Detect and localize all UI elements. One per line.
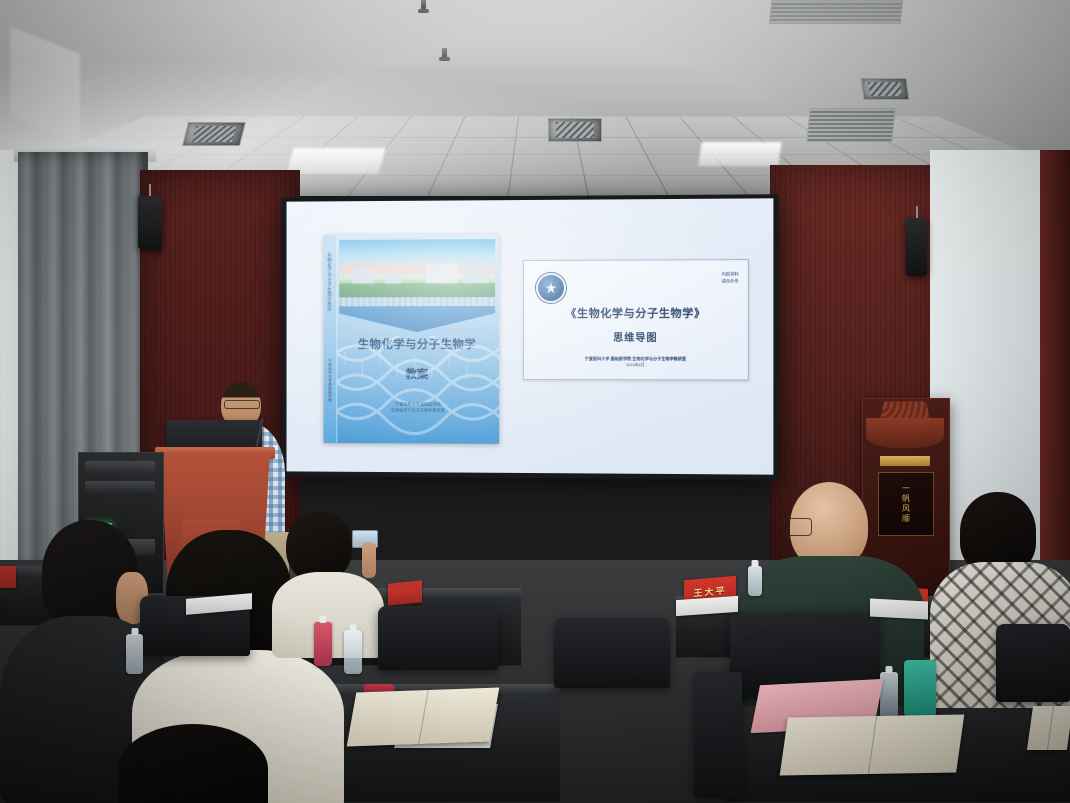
projection-screen[interactable]: 生物化学与分子生物学教案 宁夏医科大学基础医学院 生物化学与分子生物学 教案: [287, 198, 774, 474]
audience-glasses: [784, 518, 812, 536]
pink-thermos: [314, 622, 332, 666]
ceiling-return-grille: [769, 0, 904, 24]
ship-scroll-text: 一帆风顺: [901, 484, 912, 524]
water-bottle: [344, 630, 362, 674]
name-card-3: [388, 580, 422, 606]
rack-unit: [85, 481, 155, 493]
photo-stage: 生物化学与分子生物学教案 宁夏医科大学基础医学院 生物化学与分子生物学 教案: [0, 0, 1070, 803]
open-notebook: [780, 714, 965, 775]
projection-screen-frame: 生物化学与分子生物学教案 宁夏医科大学基础医学院 生物化学与分子生物学 教案: [282, 194, 779, 480]
green-thermos: [904, 660, 936, 718]
water-bottle: [126, 634, 143, 674]
dna-helix-graphic: [337, 336, 499, 444]
water-bottle: [748, 566, 762, 596]
wall-speaker-right: [906, 218, 927, 276]
ship-scroll: 一帆风顺: [878, 472, 934, 536]
sprinkler-head: [442, 48, 447, 60]
mindmap-title-card: 内部资料 请勿外传 《生物化学与分子生物学》 思维导图 宁夏医科大学 基础医学院…: [523, 259, 749, 380]
ship-hull: [866, 418, 944, 448]
confidential-notice: 内部资料 请勿外传: [722, 271, 739, 284]
audience-arm: [362, 542, 376, 578]
textbook-cover-image: 生物化学与分子生物学教案 宁夏医科大学基础医学院 生物化学与分子生物学 教案: [324, 234, 500, 444]
sprinkler-head: [421, 0, 426, 9]
ceiling-air-vent: [548, 118, 602, 142]
presenter-glasses: [224, 400, 260, 409]
open-notebook: [347, 688, 500, 747]
rack-unit: [85, 461, 155, 475]
photo-building: [426, 263, 457, 285]
photo-building: [464, 260, 489, 285]
wall-speaker-left: [138, 195, 162, 252]
university-emblem-icon: [536, 273, 566, 303]
ship-plaque: [880, 456, 930, 466]
campus-photo: [339, 239, 495, 313]
open-notebook: [1027, 706, 1070, 750]
ceiling-air-vent: [860, 78, 909, 100]
document-sheet: [870, 598, 928, 619]
slide-main-title: 《生物化学与分子生物学》: [524, 305, 748, 321]
book-spine-title: 生物化学与分子生物学教案: [325, 253, 336, 311]
chair: [694, 672, 742, 798]
recessed-light: [286, 148, 385, 174]
name-card-4: [0, 566, 16, 588]
slide-subtitle: 思维导图: [524, 329, 748, 344]
book-spine: 生物化学与分子生物学教案 宁夏医科大学基础医学院: [324, 235, 338, 443]
book-cover-footer: 宁夏医科大学基础医学院 生物化学与分子生物学教研室: [343, 401, 493, 413]
chair: [378, 606, 498, 670]
chair: [554, 618, 670, 688]
chair: [996, 624, 1070, 702]
book-spine-footer: 宁夏医科大学基础医学院: [325, 359, 336, 403]
right-wall-edge: [1040, 150, 1070, 620]
slide-date: 2023年6月: [524, 363, 748, 368]
ceiling-return-grille: [806, 108, 896, 142]
recessed-light: [698, 142, 781, 166]
slide-organization: 宁夏医科大学 基础医学院 生物化学与分子生物学教研室: [524, 356, 748, 362]
ceiling-air-vent: [182, 122, 246, 146]
cover-chevron-band: [339, 306, 495, 332]
